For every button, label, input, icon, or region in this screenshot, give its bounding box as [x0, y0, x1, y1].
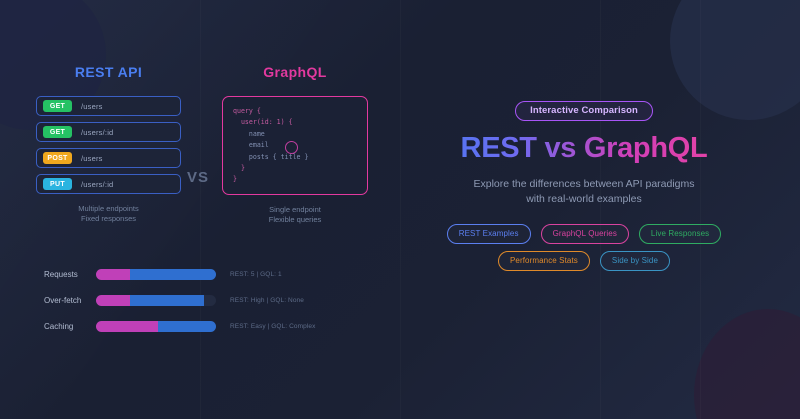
chart-bar-graphql: [130, 295, 204, 306]
code-line: name: [233, 129, 357, 140]
chart-row-annotation: REST: Easy | GQL: Complex: [230, 323, 315, 330]
chip-side-by-side[interactable]: Side by Side: [600, 251, 670, 271]
chart-row-label: Requests: [44, 270, 96, 279]
graphql-caption-line-1: Single endpoint: [222, 205, 368, 215]
graphql-panel-title: GraphQL: [222, 64, 368, 80]
feature-chip-row: REST Examples GraphQL Queries Live Respo…: [444, 224, 724, 271]
chip-rest-examples[interactable]: REST Examples: [447, 224, 531, 244]
rest-endpoint-row[interactable]: POST /users: [36, 148, 181, 168]
page-title: REST vs GraphQL: [398, 132, 770, 165]
chart-row-label: Caching: [44, 322, 96, 331]
endpoint-path: /users/:id: [81, 128, 113, 137]
graphql-panel-caption: Single endpoint Flexible queries: [222, 205, 368, 225]
code-line: user(id: 1) {: [233, 117, 357, 128]
code-line: posts { title }: [233, 152, 357, 163]
chart-row-annotation: REST: High | GQL: None: [230, 297, 304, 304]
rest-endpoint-row[interactable]: GET /users: [36, 96, 181, 116]
http-method-badge: PUT: [43, 178, 72, 190]
rest-panel-caption: Multiple endpoints Fixed responses: [36, 204, 181, 224]
chart-bar-rest: [96, 269, 130, 280]
rest-panel: REST API GET /users GET /users/:id POST …: [36, 64, 181, 224]
app-root: REST API GET /users GET /users/:id POST …: [0, 0, 800, 419]
chip-live-responses[interactable]: Live Responses: [639, 224, 721, 244]
chart-row-label: Over-fetch: [44, 296, 96, 305]
chart-row: Caching REST: Easy | GQL: Complex: [44, 320, 344, 333]
chart-row: Requests REST: 5 | GQL: 1: [44, 268, 344, 281]
code-line: }: [233, 163, 357, 174]
rest-panel-title: REST API: [36, 64, 181, 80]
chart-bar-track: [96, 295, 216, 306]
graphql-panel: GraphQL query { user(id: 1) { name email…: [222, 64, 368, 225]
rest-endpoint-row[interactable]: PUT /users/:id: [36, 174, 181, 194]
hero-subtitle-line-2: with real-world examples: [398, 192, 770, 207]
rest-caption-line-2: Fixed responses: [36, 214, 181, 224]
chart-row: Over-fetch REST: High | GQL: None: [44, 294, 344, 307]
chart-bar-graphql: [158, 321, 216, 332]
chart-bar-track: [96, 321, 216, 332]
code-line: }: [233, 174, 357, 185]
interactive-comparison-badge: Interactive Comparison: [515, 101, 653, 121]
chart-bar-track: [96, 269, 216, 280]
code-line: query {: [233, 106, 357, 117]
chart-row-annotation: REST: 5 | GQL: 1: [230, 271, 282, 278]
grid-line: [200, 0, 201, 419]
http-method-badge: POST: [43, 152, 72, 164]
decorative-circle-bottom-right: [694, 309, 800, 419]
chart-bar-rest: [96, 321, 158, 332]
chart-bar-rest: [96, 295, 130, 306]
chip-graphql-queries[interactable]: GraphQL Queries: [541, 224, 629, 244]
chart-bar-graphql: [130, 269, 216, 280]
http-method-badge: GET: [43, 126, 72, 138]
rest-endpoint-row[interactable]: GET /users/:id: [36, 122, 181, 142]
versus-divider: VS: [187, 169, 209, 186]
rest-caption-line-1: Multiple endpoints: [36, 204, 181, 214]
hero-subtitle: Explore the differences between API para…: [398, 177, 770, 207]
endpoint-path: /users/:id: [81, 180, 113, 189]
chip-performance-stats[interactable]: Performance Stats: [498, 251, 590, 271]
hero-section: Interactive Comparison REST vs GraphQL E…: [398, 100, 770, 271]
circle-accent-icon: [285, 141, 298, 154]
graphql-caption-line-2: Flexible queries: [222, 215, 368, 225]
endpoint-path: /users: [81, 102, 103, 111]
hero-subtitle-line-1: Explore the differences between API para…: [398, 177, 770, 192]
http-method-badge: GET: [43, 100, 72, 112]
graphql-query-card[interactable]: query { user(id: 1) { name email posts {…: [222, 96, 368, 195]
comparison-bar-chart: Requests REST: 5 | GQL: 1 Over-fetch RES…: [44, 268, 344, 346]
endpoint-path: /users: [81, 154, 103, 163]
